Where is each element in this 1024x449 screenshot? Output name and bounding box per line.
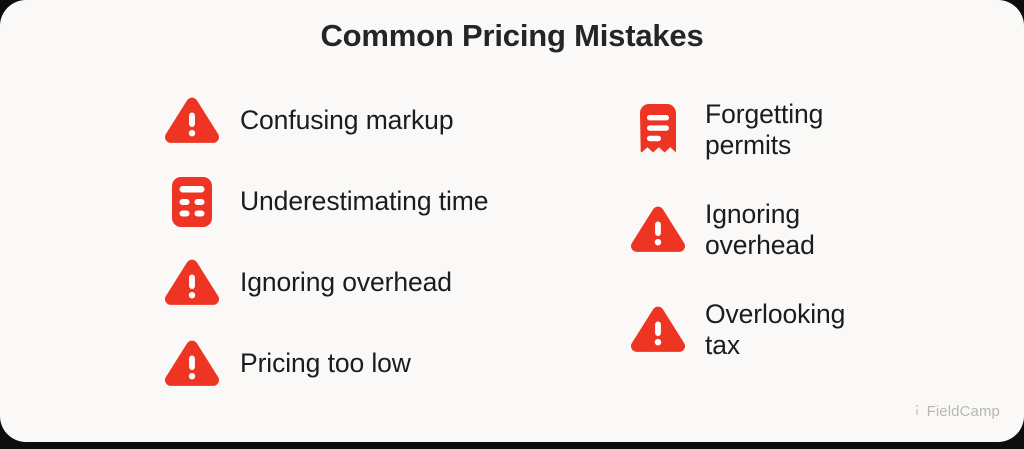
pricing-mistakes-card: Common Pricing Mistakes Confusing markup [0,0,1024,442]
list-item: Overlooking tax [630,280,1024,380]
list-item-label: Confusing markup [240,105,453,136]
right-column: Forgetting permits Ignoring overhead [590,80,1024,404]
watermark-label: FieldCamp [927,403,1000,420]
warning-triangle-icon [163,93,221,149]
list-item: Ignoring overhead [630,180,1024,280]
warning-triangle-icon [163,336,221,392]
list-item-label: Overlooking tax [705,299,845,360]
page-title: Common Pricing Mistakes [0,18,1024,54]
left-column: Confusing markup Underestimating time [0,80,590,404]
watermark: FieldCamp [914,403,1000,420]
list-item: Pricing too low [163,323,590,404]
list-item: Confusing markup [163,80,590,161]
warning-triangle-icon [630,202,686,258]
calculator-icon [163,174,221,230]
list-item-label: Ignoring overhead [705,199,815,260]
mistakes-columns: Confusing markup Underestimating time [0,80,1024,404]
warning-triangle-icon [630,302,686,358]
fieldcamp-logo-icon [914,405,922,419]
warning-triangle-icon [163,255,221,311]
list-item-label: Underestimating time [240,186,488,217]
receipt-icon [630,102,686,158]
list-item-label: Ignoring overhead [240,267,452,298]
list-item: Underestimating time [163,161,590,242]
list-item-label: Forgetting permits [705,99,823,160]
list-item: Forgetting permits [630,80,1024,180]
list-item: Ignoring overhead [163,242,590,323]
list-item-label: Pricing too low [240,348,411,379]
